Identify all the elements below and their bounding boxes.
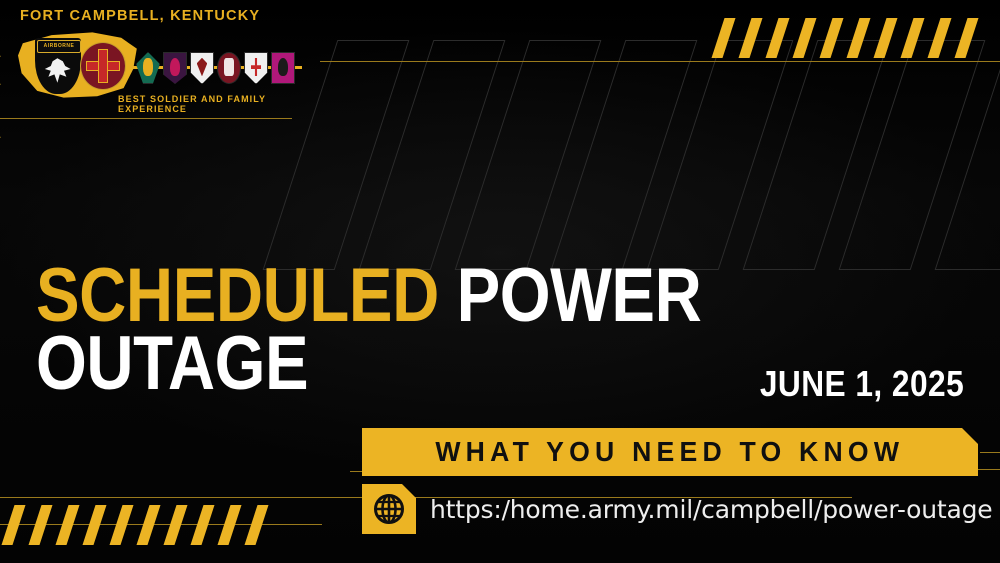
decor-stripe xyxy=(766,18,790,58)
poster-canvas: Fort Campbell, Kentucky AIRBORNE Best So… xyxy=(0,0,1000,563)
cta-banner-label: WHAT YOU NEED TO KNOW xyxy=(436,436,905,468)
fort-campbell-logo-block: Fort Campbell, Kentucky AIRBORNE Best So… xyxy=(8,4,298,116)
decor-stripe xyxy=(29,505,53,545)
decor-stripe xyxy=(56,505,80,545)
decor-stripe xyxy=(712,18,736,58)
headline-word-outage: OUTAGE xyxy=(36,321,308,406)
decor-stripe xyxy=(901,18,925,58)
globe-icon xyxy=(362,484,416,534)
decor-stripe xyxy=(928,18,952,58)
gold-line-cta-diagonal xyxy=(0,93,1,138)
decor-stripe xyxy=(164,505,188,545)
gold-line-top-left xyxy=(0,118,292,119)
decor-parallelogram xyxy=(647,40,794,270)
diagonal-stripes-top-right xyxy=(718,18,986,58)
decor-parallelogram xyxy=(935,40,1000,270)
decor-stripe xyxy=(820,18,844,58)
decor-stripe xyxy=(137,505,161,545)
airborne-tab-label: AIRBORNE xyxy=(37,40,81,53)
gold-line-bottom-diagonal xyxy=(0,61,1,85)
unit-patch-medical-icon xyxy=(244,52,268,84)
decor-parallelogram xyxy=(455,40,602,270)
headline-line-1: SCHEDULED POWER xyxy=(36,262,776,330)
decor-stripe xyxy=(847,18,871,58)
garrison-castle-patch-icon xyxy=(80,42,126,90)
decor-stripe xyxy=(245,505,269,545)
gold-line-cta-tail xyxy=(980,452,1000,453)
gold-line-top-right xyxy=(320,61,1000,62)
url-text[interactable]: https:/home.army.mil/campbell/power-outa… xyxy=(430,495,993,524)
diagonal-stripes-bottom-left xyxy=(8,505,276,545)
headline-word-power: POWER xyxy=(457,253,702,338)
decor-parallelogram xyxy=(551,40,698,270)
decor-stripe xyxy=(83,505,107,545)
headline-line-2: OUTAGE xyxy=(36,330,776,398)
installation-tagline: Best Soldier and Family Experience xyxy=(118,94,298,114)
decor-stripe xyxy=(874,18,898,58)
decor-stripe xyxy=(2,505,26,545)
decor-stripe xyxy=(218,505,242,545)
decor-stripe xyxy=(191,505,215,545)
decor-stripe xyxy=(110,505,134,545)
decor-parallelogram xyxy=(359,40,506,270)
gold-line-cta-left xyxy=(0,524,322,525)
url-row[interactable]: https:/home.army.mil/campbell/power-outa… xyxy=(362,484,993,534)
unit-patch-medcom-icon xyxy=(217,52,241,84)
unit-patch-row xyxy=(136,44,296,92)
screaming-eagle-icon xyxy=(43,57,73,87)
decor-parallelogram xyxy=(743,40,890,270)
unit-patch-eod-icon xyxy=(271,52,295,84)
unit-patch-special-forces-icon xyxy=(136,52,160,84)
decor-parallelogram xyxy=(839,40,986,270)
decor-stripe xyxy=(955,18,979,58)
event-date: JUNE 1, 2025 xyxy=(760,363,964,405)
gold-line-top-diagonal xyxy=(0,9,1,57)
unit-patch-amc-icon xyxy=(190,52,214,84)
castle-cross-vertical-icon xyxy=(98,49,108,83)
unit-patch-soc-icon xyxy=(163,52,187,84)
installation-title: Fort Campbell, Kentucky xyxy=(20,8,260,24)
decor-stripe xyxy=(793,18,817,58)
cta-banner[interactable]: WHAT YOU NEED TO KNOW xyxy=(362,428,978,476)
decor-stripe xyxy=(739,18,763,58)
